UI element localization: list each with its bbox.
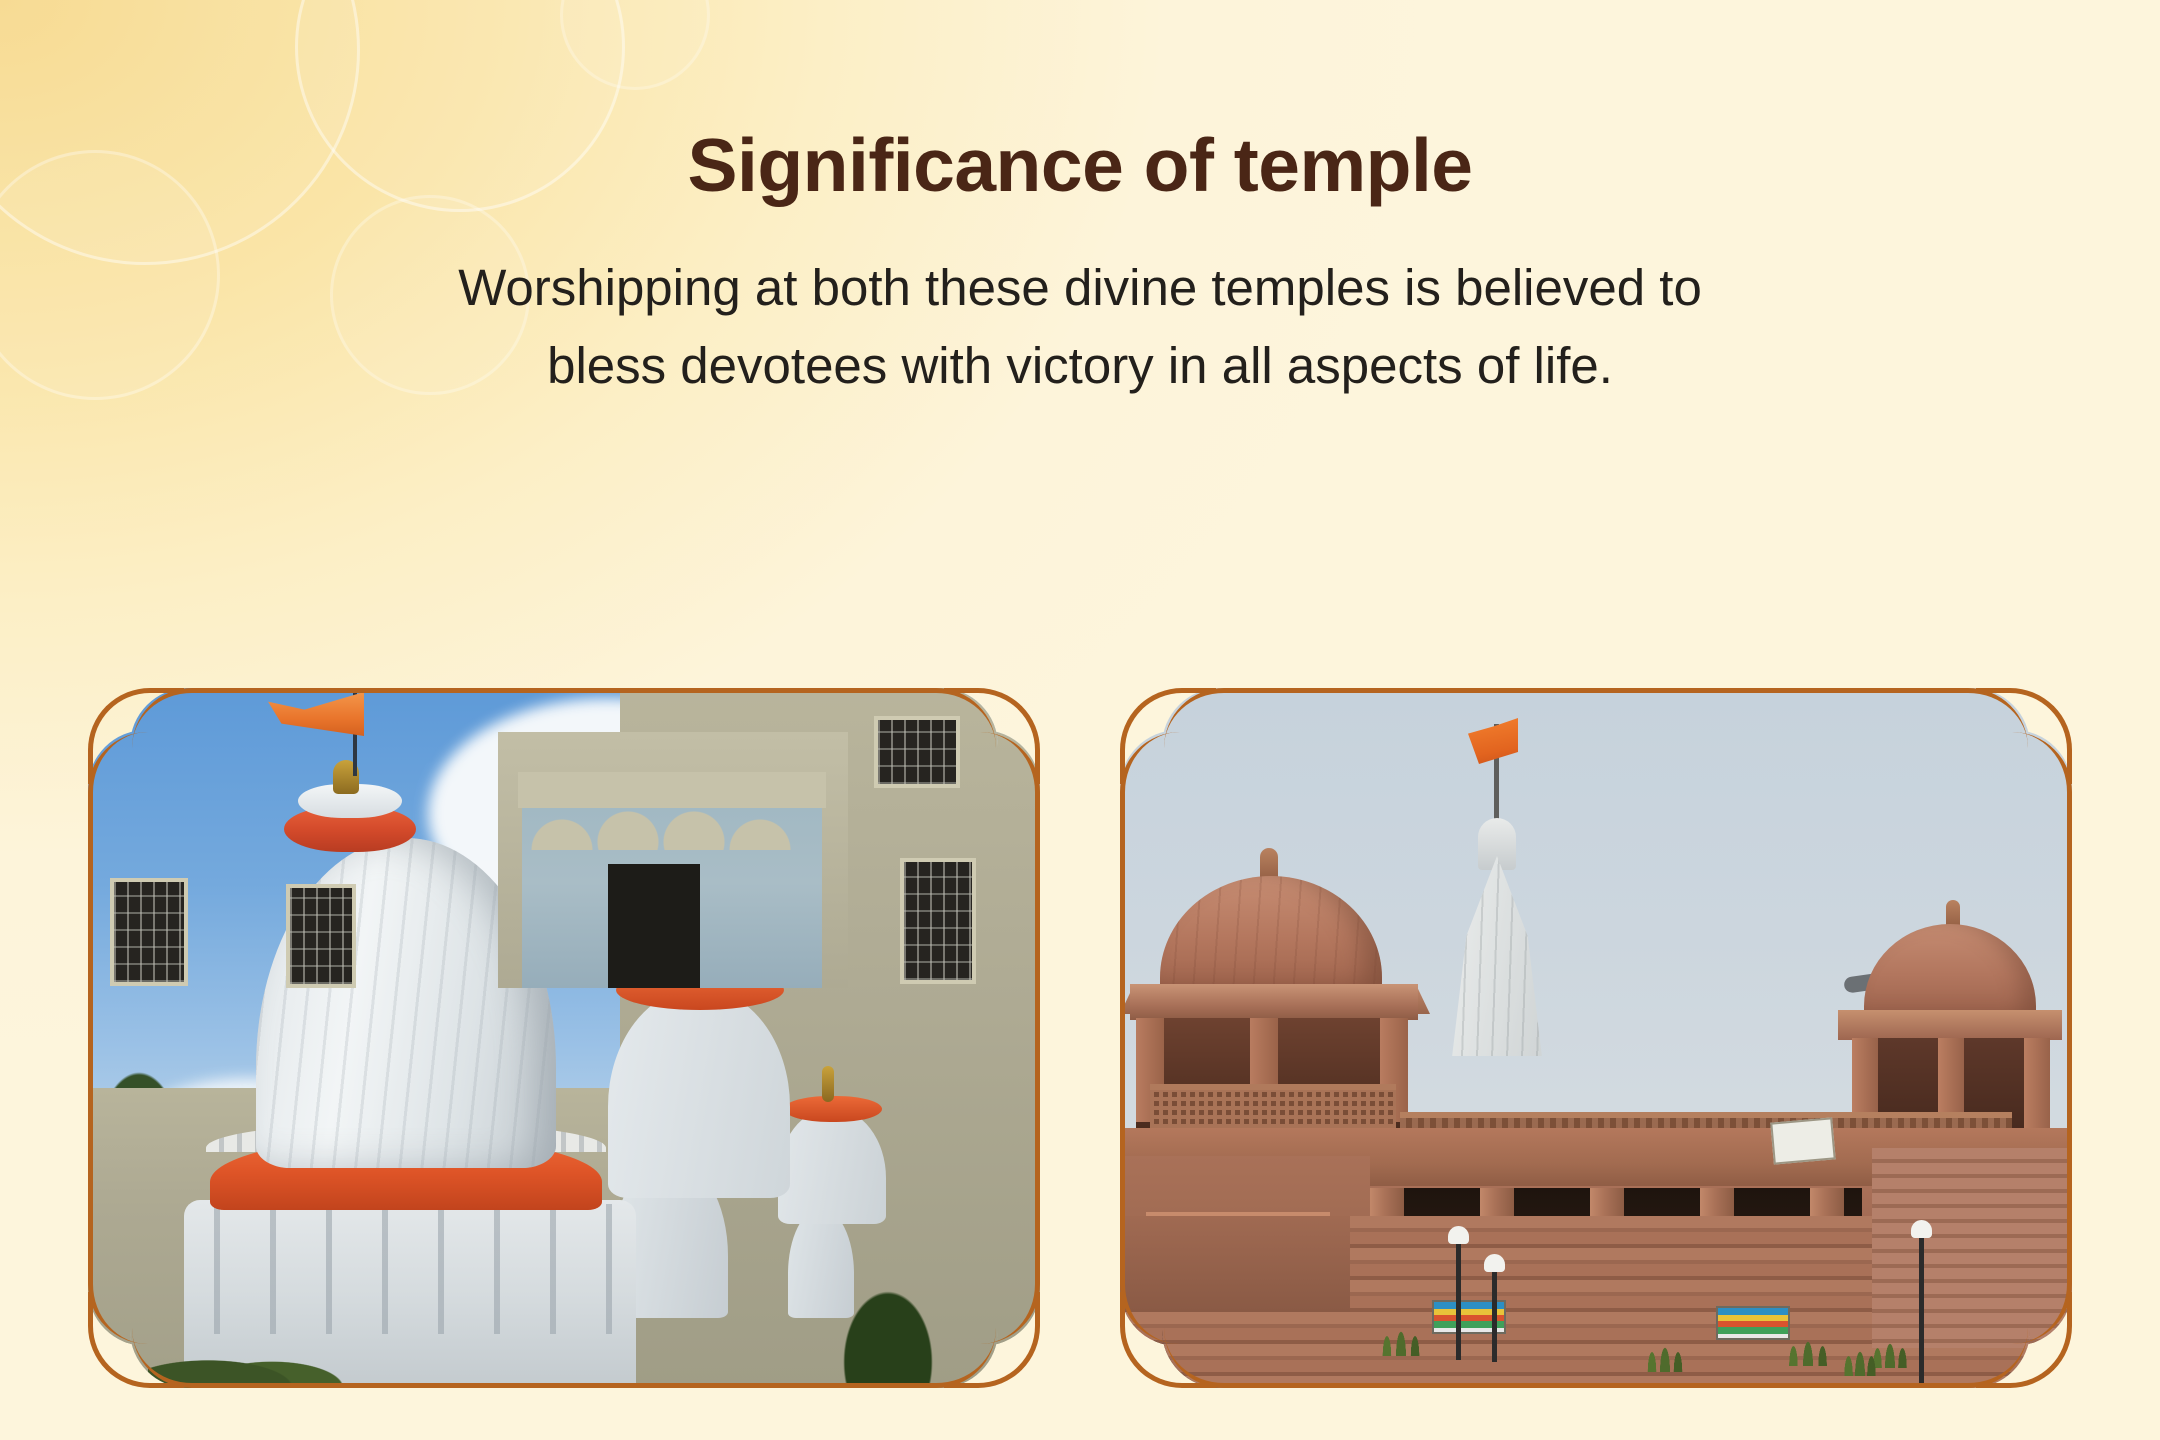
left-temple-photo [88, 688, 1040, 1388]
right-temple-photo-card[interactable] [1120, 688, 2072, 1388]
left-temple-photo-card[interactable] [88, 688, 1040, 1388]
photo-sheet [1162, 688, 2030, 1388]
temple-scene-left-lobe [130, 688, 998, 1388]
slide-canvas: Significance of temple Worshipping at bo… [0, 0, 2160, 1440]
temple-scene-right-lobe [1162, 688, 2030, 1388]
photo-sheet [130, 688, 998, 1388]
subtitle-text: Worshipping at both these divine temples… [150, 249, 2010, 404]
headline-block: Significance of temple Worshipping at bo… [0, 128, 2160, 404]
page-title: Significance of temple [0, 128, 2160, 203]
decorative-circle-icon [560, 0, 710, 90]
subtitle-line-2: bless devotees with victory in all aspec… [150, 327, 2010, 405]
subtitle-line-1: Worshipping at both these divine temples… [150, 249, 2010, 327]
right-temple-photo [1120, 688, 2072, 1388]
image-gallery [88, 688, 2072, 1388]
